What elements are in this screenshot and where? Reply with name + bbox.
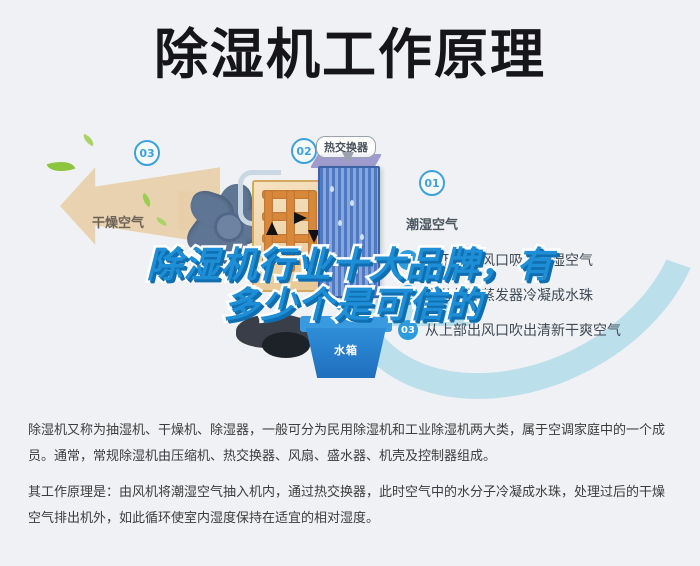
step-text-02: 水分经过蒸发器冷凝成水珠 (425, 285, 593, 305)
list-item: 02 水分经过蒸发器冷凝成水珠 (398, 285, 698, 305)
title-part-2: 工作原理 (322, 28, 546, 82)
dehumidifier-internals (252, 166, 388, 312)
article-body: 除湿机又称为抽湿机、干燥机、除湿器，一般可分为民用除湿机和工业除湿机两大类，属于… (28, 418, 676, 532)
page-root: 除湿机工作原理 (0, 0, 700, 566)
step-badge-02: 02 (398, 285, 418, 305)
diagram-badge-01: 01 (419, 170, 445, 196)
step-badge-01: 01 (398, 250, 418, 270)
step-text-01: 从下部进风口吸入潮湿空气 (425, 250, 593, 270)
step-text-03: 从上部出风口吹出清新干爽空气 (425, 320, 621, 340)
banner-title: 除湿机工作原理 (0, 28, 700, 82)
title-part-1: 除湿机 (154, 28, 322, 82)
water-tank: 水箱 (300, 316, 392, 378)
list-item: 03 从上部出风口吹出清新干爽空气 (398, 320, 698, 340)
leaf-icon (81, 134, 96, 147)
process-step-list: 01 从下部进风口吸入潮湿空气 02 水分经过蒸发器冷凝成水珠 03 从上部出风… (398, 250, 698, 355)
condenser-coil-block (252, 180, 328, 292)
article-paragraph-1: 除湿机又称为抽湿机、干燥机、除湿器，一般可分为民用除湿机和工业除湿机两大类，属于… (28, 418, 676, 470)
dry-air-label: 干燥空气 (92, 212, 144, 231)
diagram-badge-03: 03 (134, 140, 160, 166)
leaf-icon (47, 156, 76, 176)
callout-pointer-icon (342, 152, 354, 164)
article-paragraph-2: 其工作原理是：由风机将潮湿空气抽入机内，通过热交换器，此时空气中的水分子冷凝成水… (28, 480, 676, 532)
list-item: 01 从下部进风口吸入潮湿空气 (398, 250, 698, 270)
diagram-badge-02: 02 (291, 138, 317, 164)
water-tank-label: 水箱 (300, 342, 392, 358)
humid-air-label: 潮湿空气 (406, 214, 458, 233)
step-badge-03: 03 (398, 320, 418, 340)
evaporator-fin-block (318, 166, 380, 298)
